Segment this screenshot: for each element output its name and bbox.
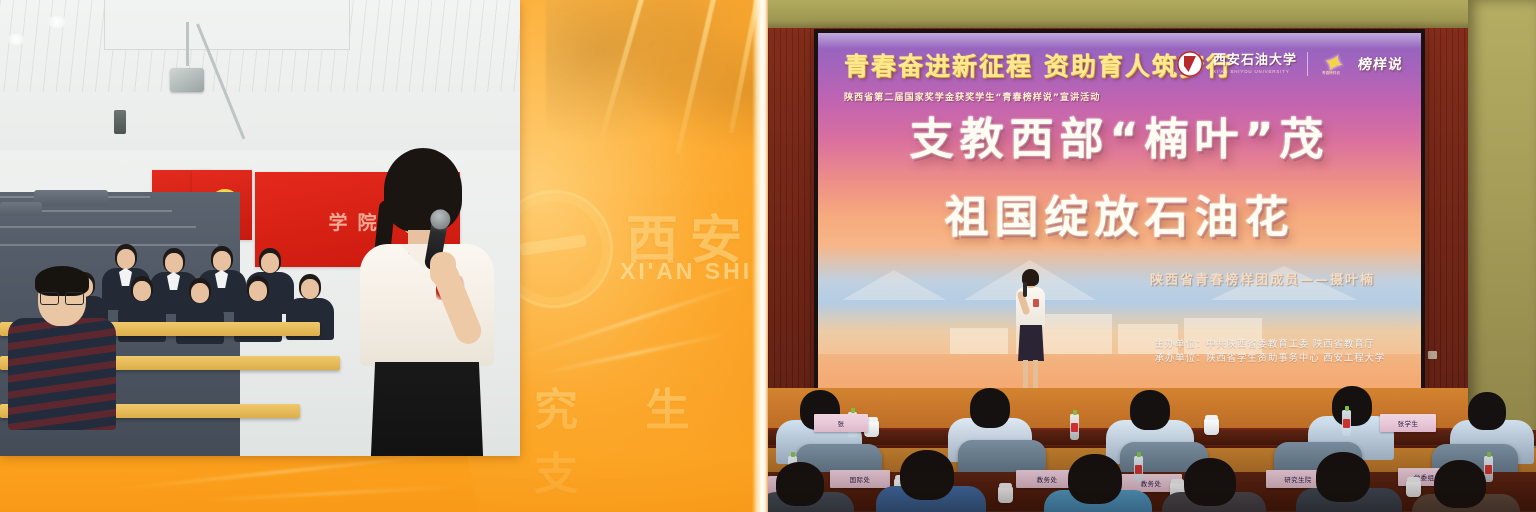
step-rail-4 xyxy=(0,244,218,246)
right-photo-panel: 青春奋进新征程 资助育人筑梦行 陕西省第二届国家奖学金获奖学生“青春榜样说”宣讲… xyxy=(768,0,1536,512)
eyeglasses-icon xyxy=(40,292,84,303)
speaker-role-line: 陕西省青春榜样团成员——摄叶楠 xyxy=(1150,269,1375,288)
presenter-badge-icon xyxy=(1033,299,1039,307)
auditorium-side-wall xyxy=(1468,0,1536,452)
audience-face xyxy=(191,283,209,303)
star-emblem-icon: ✦ 青春榜样说 xyxy=(1318,49,1348,79)
university-seal-icon xyxy=(1177,51,1203,77)
lecture-hall-photo: ☭ ★ 学院 xyxy=(0,0,520,456)
audience-face xyxy=(301,279,319,299)
screenshot-root: 西安 XI'AN SHI 究 生 支 ☭ ★ xyxy=(0,0,1536,512)
audience-face xyxy=(165,253,183,273)
seat-back-1 xyxy=(34,190,108,206)
left-photo-panel: 西安 XI'AN SHI 究 生 支 ☭ ★ xyxy=(0,0,768,512)
seat-back-2 xyxy=(0,202,42,216)
university-name-en: XI'AN SHIYOU UNIVERSITY xyxy=(1213,70,1297,75)
speaker-hand xyxy=(430,252,456,286)
audience-face xyxy=(213,251,231,271)
wall-panel xyxy=(104,0,350,50)
organizer-block: 主办单位：中共陕西省委教育工委 陕西省教育厅 承办单位：陕西省学生资助事务中心 … xyxy=(1155,338,1385,366)
slide-header-subtitle: 陕西省第二届国家奖学金获奖学生“青春榜样说”宣讲活动 xyxy=(844,90,1264,103)
audience-head xyxy=(1332,386,1372,426)
speaker-skirt xyxy=(368,362,486,456)
speaker-figure xyxy=(352,148,502,456)
ceiling-projector-icon xyxy=(170,68,204,92)
foreground-shadow-gradient xyxy=(768,422,1536,512)
star-emblem-caption: 青春榜样说 xyxy=(1322,71,1340,76)
audience-face xyxy=(261,253,279,273)
audience-face xyxy=(249,281,267,301)
projector-mount-vertical xyxy=(186,22,189,66)
calligraphy-logo: 榜样说 xyxy=(1357,54,1404,74)
hero-title-line-1: 支教西部“楠叶”茂 xyxy=(818,103,1421,167)
ceiling-light-3 xyxy=(6,34,26,45)
microphone-icon xyxy=(1023,282,1027,297)
slide-hero-title: 支教西部“楠叶”茂 祖国绽放石油花 xyxy=(818,103,1421,245)
building-4 xyxy=(950,328,1008,354)
stage-presenter-figure xyxy=(1011,269,1051,388)
panel-divider xyxy=(752,0,768,512)
ceiling-light-1 xyxy=(46,16,68,28)
front-audience-body xyxy=(8,318,116,430)
hero-title-line-2: 祖国绽放石油花 xyxy=(818,181,1421,245)
organizer-line: 承办单位：陕西省学生资助事务中心 西安工程大学 xyxy=(1155,352,1385,366)
wall-speaker-icon xyxy=(114,110,126,134)
audience-face xyxy=(133,281,151,301)
organizer-line: 主办单位：中共陕西省委教育工委 陕西省教育厅 xyxy=(1155,338,1385,352)
presenter-leg-left xyxy=(1023,360,1028,388)
logo-separator xyxy=(1307,52,1308,76)
university-name-cn: 西安石油大学 xyxy=(1213,54,1297,67)
slide-logo-group: 西安石油大学 XI'AN SHIYOU UNIVERSITY ✦ 青春榜样说 榜… xyxy=(1177,49,1403,79)
step-rail-3 xyxy=(0,226,196,228)
university-name-block: 西安石油大学 XI'AN SHIYOU UNIVERSITY xyxy=(1213,54,1297,75)
presenter-skirt xyxy=(1018,325,1044,361)
audience-face xyxy=(117,249,135,269)
presenter-leg-right xyxy=(1033,360,1038,388)
led-presentation-screen: 青春奋进新征程 资助育人筑梦行 陕西省第二届国家奖学金获奖学生“青春榜样说”宣讲… xyxy=(818,33,1421,388)
backdrop-watermark-en: XI'AN SHI xyxy=(620,258,752,285)
wall-outlet-icon xyxy=(1428,351,1437,359)
